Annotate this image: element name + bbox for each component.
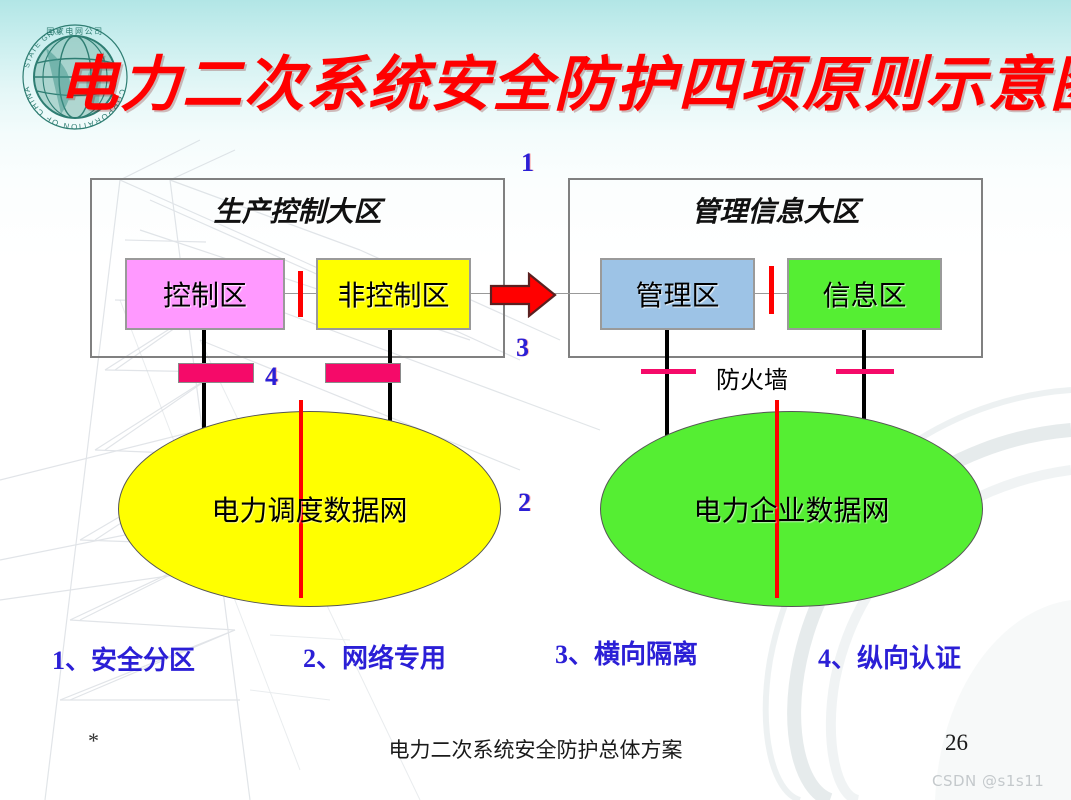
legend-item-horizontal-isolation: 3、横向隔离 [555,634,698,671]
sub-zone-non-control-label: 非控制区 [337,274,449,314]
callout-3: 3 [516,333,529,363]
legend-item-vertical-authentication: 4、纵向认证 [818,638,961,675]
legend-item-security-partition: 1、安全分区 [52,640,195,677]
network-label-dispatch: 电力调度数据网 [211,489,407,529]
zone-title-management-information: 管理信息大区 [570,190,981,230]
callout-2: 2 [518,488,531,518]
network-label-enterprise: 电力企业数据网 [693,489,889,529]
connector-noncontrol-to-arrow [471,293,491,294]
legend-item-dedicated-network: 2、网络专用 [303,638,446,675]
footer-title: 电力二次系统安全防护总体方案 [0,734,1071,764]
sub-zone-information-label: 信息区 [822,274,906,314]
callout-1: 1 [521,148,534,178]
firewall-marker-control [178,363,254,383]
firewall-marker-management [641,369,696,374]
slide-canvas: STATE GRID CORPORATION OF CHINA 国家电网公司 电… [0,0,1071,800]
footer-page-number: 26 [945,730,968,756]
sub-zone-information: 信息区 [787,258,942,330]
drop-line-control [202,330,206,440]
svg-text:国家电网公司: 国家电网公司 [46,26,104,36]
firewall-label: 防火墙 [716,360,788,395]
connector-arrow-to-manage [552,293,602,294]
network-ellipse-dispatch: 电力调度数据网 [118,411,501,607]
sub-zone-control: 控制区 [125,258,285,330]
firewall-marker-information [836,369,894,374]
network-ellipse-enterprise: 电力企业数据网 [600,411,983,607]
sub-zone-non-control: 非控制区 [316,258,471,330]
sub-zone-management-label: 管理区 [635,274,719,314]
drop-line-management [665,330,669,442]
csdn-watermark: CSDN @s1s11 [932,772,1044,790]
sub-zone-control-label: 控制区 [163,274,247,314]
page-title: 电力二次系统安全防护四项原则示意图 [58,36,1038,123]
isolation-bar-left [298,271,303,317]
zone-title-production-control: 生产控制大区 [92,190,503,230]
red-right-arrow [489,272,557,318]
firewall-marker-non-control [325,363,401,383]
callout-4: 4 [265,362,278,392]
sub-zone-management: 管理区 [600,258,755,330]
isolation-bar-right [769,266,774,314]
